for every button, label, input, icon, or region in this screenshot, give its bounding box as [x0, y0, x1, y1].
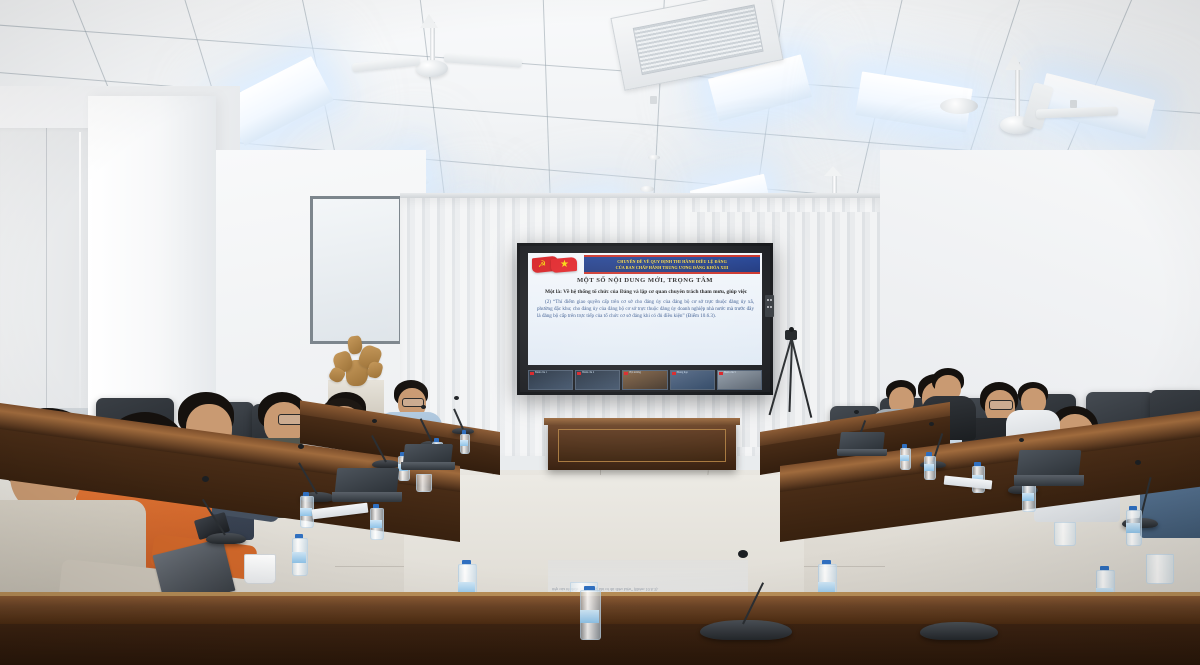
- vc-thumbnail[interactable]: Phòng họp: [670, 370, 715, 390]
- smoke-detector: [648, 155, 660, 160]
- laptop[interactable]: [840, 432, 884, 456]
- slide-paragraph-1: Một là: Về hệ thống tổ chức của Đảng và …: [537, 289, 754, 296]
- ceiling-speaker: [940, 98, 978, 114]
- conference-microphone[interactable]: [372, 448, 400, 468]
- party-flags: ☭ ★: [531, 255, 582, 275]
- coffee-cup[interactable]: [244, 554, 276, 584]
- vc-thumbnail[interactable]: Điểm cầu 1: [528, 370, 573, 390]
- record-badge-icon: [624, 372, 628, 375]
- vc-thumbnail-label: Điểm cầu 2: [582, 371, 594, 374]
- head-table-top: [544, 418, 740, 425]
- water-bottle[interactable]: [1126, 506, 1140, 544]
- driftwood-sculpture: [330, 330, 384, 386]
- laptop[interactable]: [404, 444, 452, 470]
- gold-star-icon: ★: [560, 260, 569, 270]
- vc-thumbnail-label: Điểm cầu 5: [724, 371, 736, 374]
- video-conference-strip: Điểm cầu 1 Điểm cầu 2 Hội trường Phòng h…: [528, 370, 762, 390]
- drinking-glass[interactable]: [416, 474, 432, 492]
- water-bottle[interactable]: [300, 492, 312, 526]
- laptop[interactable]: [1018, 450, 1080, 486]
- conference-microphone[interactable]: [700, 590, 792, 640]
- slide-content: ☭ ★ CHUYÊN ĐỀ VỀ QUY ĐỊNH THI HÀNH ĐIỀU …: [528, 253, 762, 365]
- drinking-glass[interactable]: [1146, 554, 1174, 584]
- hammer-sickle-icon: ☭: [538, 260, 546, 269]
- vc-thumbnail-label: Phòng họp: [677, 371, 688, 374]
- slide-header-line2: CỦA BAN CHẤP HÀNH TRUNG ƯƠNG ĐẢNG KHÓA X…: [584, 265, 760, 270]
- conference-microphone[interactable]: [920, 596, 998, 640]
- record-badge-icon: [719, 372, 723, 375]
- wall-control-panel[interactable]: [765, 295, 774, 317]
- water-bottle[interactable]: [924, 452, 934, 478]
- water-bottle[interactable]: [292, 534, 306, 574]
- slide-header: CHUYÊN ĐỀ VỀ QUY ĐỊNH THI HÀNH ĐIỀU LỆ Đ…: [584, 255, 760, 274]
- projection-screen[interactable]: ☭ ★ CHUYÊN ĐỀ VỀ QUY ĐỊNH THI HÀNH ĐIỀU …: [517, 243, 773, 395]
- vc-thumbnail[interactable]: Điểm cầu 2: [575, 370, 620, 390]
- record-badge-icon: [530, 372, 534, 375]
- drinking-glass[interactable]: [1054, 522, 1076, 546]
- sprinkler-head: [1070, 100, 1077, 108]
- head-table-panel: [548, 422, 736, 470]
- slide-paragraph-2: (2) “Thí điểm giao quyền cấp trên cơ sở …: [537, 299, 754, 320]
- vc-thumbnail[interactable]: Điểm cầu 5: [717, 370, 762, 390]
- window: [310, 196, 402, 344]
- head-table-inset: [558, 429, 726, 462]
- conference-microphone[interactable]: [206, 516, 246, 544]
- sprinkler-head: [650, 96, 657, 104]
- record-badge-icon: [672, 372, 676, 375]
- slide-title: MỘT SỐ NỘI DUNG MỚI, TRỌNG TÂM: [528, 277, 762, 284]
- conference-room-photo: ☭ ★ CHUYÊN ĐỀ VỀ QUY ĐỊNH THI HÀNH ĐIỀU …: [0, 0, 1200, 665]
- smoke-detector: [640, 186, 654, 192]
- water-bottle[interactable]: [900, 444, 909, 468]
- water-bottle[interactable]: [460, 430, 468, 452]
- vc-thumbnail-label: Hội trường: [629, 371, 641, 374]
- record-badge-icon: [577, 372, 581, 375]
- vc-thumbnail-label: Điểm cầu 1: [535, 371, 547, 374]
- slide-body: Một là: Về hệ thống tổ chức của Đảng và …: [537, 289, 754, 320]
- water-bottle[interactable]: [580, 586, 599, 638]
- laptop[interactable]: [336, 468, 398, 502]
- vc-thumbnail[interactable]: Hội trường: [622, 370, 667, 390]
- water-bottle[interactable]: [370, 504, 382, 538]
- blind-pull-cord[interactable]: [79, 132, 81, 418]
